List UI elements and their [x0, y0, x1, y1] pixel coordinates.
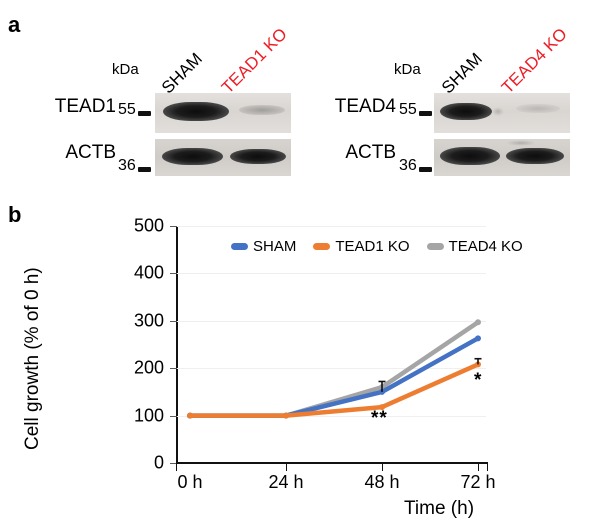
- significance-marker-0: **: [371, 408, 388, 430]
- x-tick-mark-24h: [286, 463, 287, 471]
- significance-marker-1: *: [474, 370, 482, 392]
- blot2-row1-band-sham: [440, 103, 492, 120]
- x-tick-label-24h: 24 h: [268, 472, 303, 493]
- y-tick-label-0: 0: [154, 453, 164, 474]
- blot1-row2-protein-label: ACTB: [38, 142, 116, 164]
- blot1-row1-gel: [155, 93, 291, 133]
- blot2-row2-gel: [434, 139, 570, 176]
- cell-growth-chart: Cell growth (% of 0 h) Time (h) SHAM TEA…: [0, 200, 611, 524]
- blot2-lane-header-ko: TEAD4 KO: [498, 24, 572, 98]
- blot1-row2-mw-dash: [138, 167, 151, 172]
- x-tick-mark-48h: [382, 463, 383, 471]
- blot1-kda-label: kDa: [112, 61, 139, 78]
- data-point-tead1-ko-24h: [283, 413, 289, 419]
- blot1-row2-band-ko: [230, 149, 286, 164]
- blot2-row2-protein-label: ACTB: [318, 142, 396, 164]
- blot2-row1-mw-dash: [419, 111, 432, 116]
- blot1-row1-mw-dash: [138, 111, 151, 116]
- data-point-sham-72h: [475, 335, 481, 341]
- x-axis-title: Time (h): [404, 498, 474, 520]
- series-line-tead1-ko: [190, 364, 478, 415]
- blot2-row1-mw-label: 55: [399, 101, 417, 119]
- blot1-row1-mw-label: 55: [118, 101, 136, 119]
- x-tick-label-72h: 72 h: [460, 472, 495, 493]
- blot1-row2-mw-label: 36: [118, 157, 136, 175]
- blot1-lane-header-ko: TEAD1 KO: [218, 24, 292, 98]
- x-tick-label-0h: 0 h: [177, 472, 202, 493]
- y-tick-mark-200: [170, 368, 177, 369]
- blot2-row1-smudge: [492, 107, 504, 116]
- series-svg: [176, 226, 486, 463]
- blot1-lane-header-sham: SHAM: [158, 49, 207, 98]
- y-tick-mark-400: [170, 273, 177, 274]
- plot-region: [176, 226, 486, 463]
- y-axis-title: Cell growth (% of 0 h): [22, 267, 44, 450]
- blot2-row2-mw-dash: [419, 167, 432, 172]
- x-tick-mark-72h: [478, 463, 479, 471]
- blot2-row2-smudge: [506, 140, 536, 146]
- blot1-row2-gel: [155, 139, 291, 176]
- blot2-row1-protein-label: TEAD4: [318, 96, 396, 118]
- y-tick-label-500: 500: [134, 216, 164, 237]
- data-point-tead4-ko-72h: [475, 319, 481, 325]
- x-tick-label-48h: 48 h: [364, 472, 399, 493]
- blot1-row2-band-sham: [162, 148, 223, 165]
- blot2-row2-band-ko: [506, 148, 564, 164]
- blot2-row2-mw-label: 36: [399, 157, 417, 175]
- x-axis-cap-0: [176, 462, 177, 471]
- blot2-row1-gel: [434, 93, 570, 133]
- x-axis-cap-1: [487, 462, 488, 471]
- blot2-row2-band-sham: [440, 147, 500, 165]
- y-tick-label-200: 200: [134, 358, 164, 379]
- data-point-tead1-ko-0h: [187, 413, 193, 419]
- blot2-lane-header-sham: SHAM: [438, 49, 487, 98]
- y-tick-label-300: 300: [134, 310, 164, 331]
- y-tick-label-400: 400: [134, 263, 164, 284]
- y-tick-mark-100: [170, 416, 177, 417]
- blot1-row1-protein-label: TEAD1: [38, 96, 116, 118]
- blot2-row1-band-ko: [516, 104, 560, 113]
- y-tick-mark-300: [170, 321, 177, 322]
- blot1-row1-band-ko: [239, 105, 285, 115]
- y-tick-label-100: 100: [134, 405, 164, 426]
- blot2-kda-label: kDa: [394, 61, 421, 78]
- y-tick-mark-500: [170, 226, 177, 227]
- panel-a-letter: a: [8, 14, 20, 36]
- blot1-row1-band-sham: [163, 102, 229, 121]
